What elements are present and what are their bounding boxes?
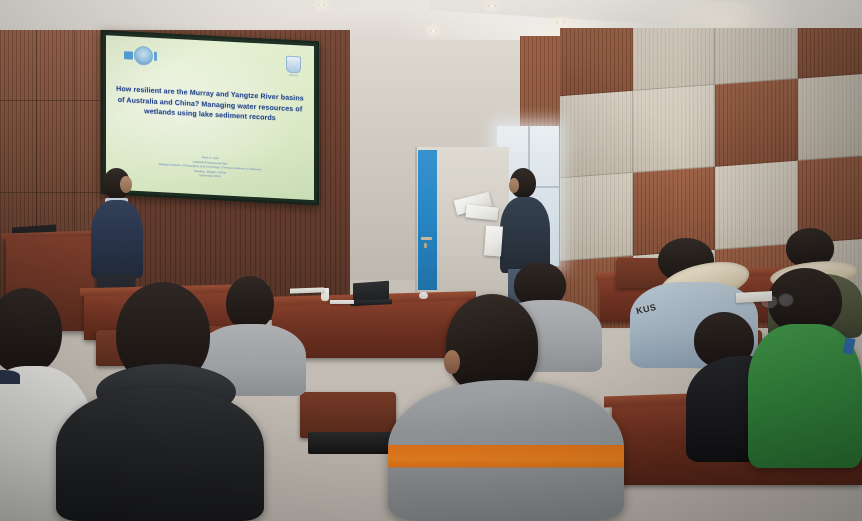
eyeglasses-bridge [775, 299, 779, 300]
attendee-shirt-trim [0, 370, 20, 384]
attendee-ear [444, 350, 460, 374]
standing-man-face [509, 178, 519, 193]
slide-logo-left-icon [124, 45, 158, 66]
attendee-orange-stripe-sweater [388, 294, 624, 521]
presenter-torso [91, 200, 143, 278]
crest-caption: NIGLAS [286, 74, 301, 78]
chair-seat-center[interactable] [308, 432, 394, 454]
held-papers-3 [484, 225, 503, 256]
downlight-2 [430, 29, 437, 33]
eyeglasses-icon-2 [778, 293, 794, 307]
door-lock-icon [424, 243, 427, 248]
presenter-face [120, 176, 132, 193]
slide-logo-right-icon: NIGLAS [286, 56, 301, 81]
logo-emblem-icon [134, 46, 153, 66]
desk-papers [330, 300, 354, 304]
blue-door[interactable] [418, 150, 437, 290]
attendee-black-hoodie [56, 282, 266, 521]
attendee-head [446, 294, 538, 394]
lecture-room-photo: NIGLAS How resilient are the Murray and … [0, 0, 862, 521]
downlight-4 [556, 20, 565, 25]
door-handle[interactable] [421, 237, 432, 240]
logo-bar-icon [154, 52, 157, 61]
downlight-3 [488, 4, 496, 8]
attendee-torso [56, 388, 264, 521]
right-desk-notebook [736, 291, 772, 303]
attendee-head [0, 288, 62, 374]
crest-icon [286, 56, 301, 74]
attendee-torso [388, 380, 624, 521]
logo-square-icon [124, 51, 133, 59]
downlight-1 [318, 3, 325, 7]
